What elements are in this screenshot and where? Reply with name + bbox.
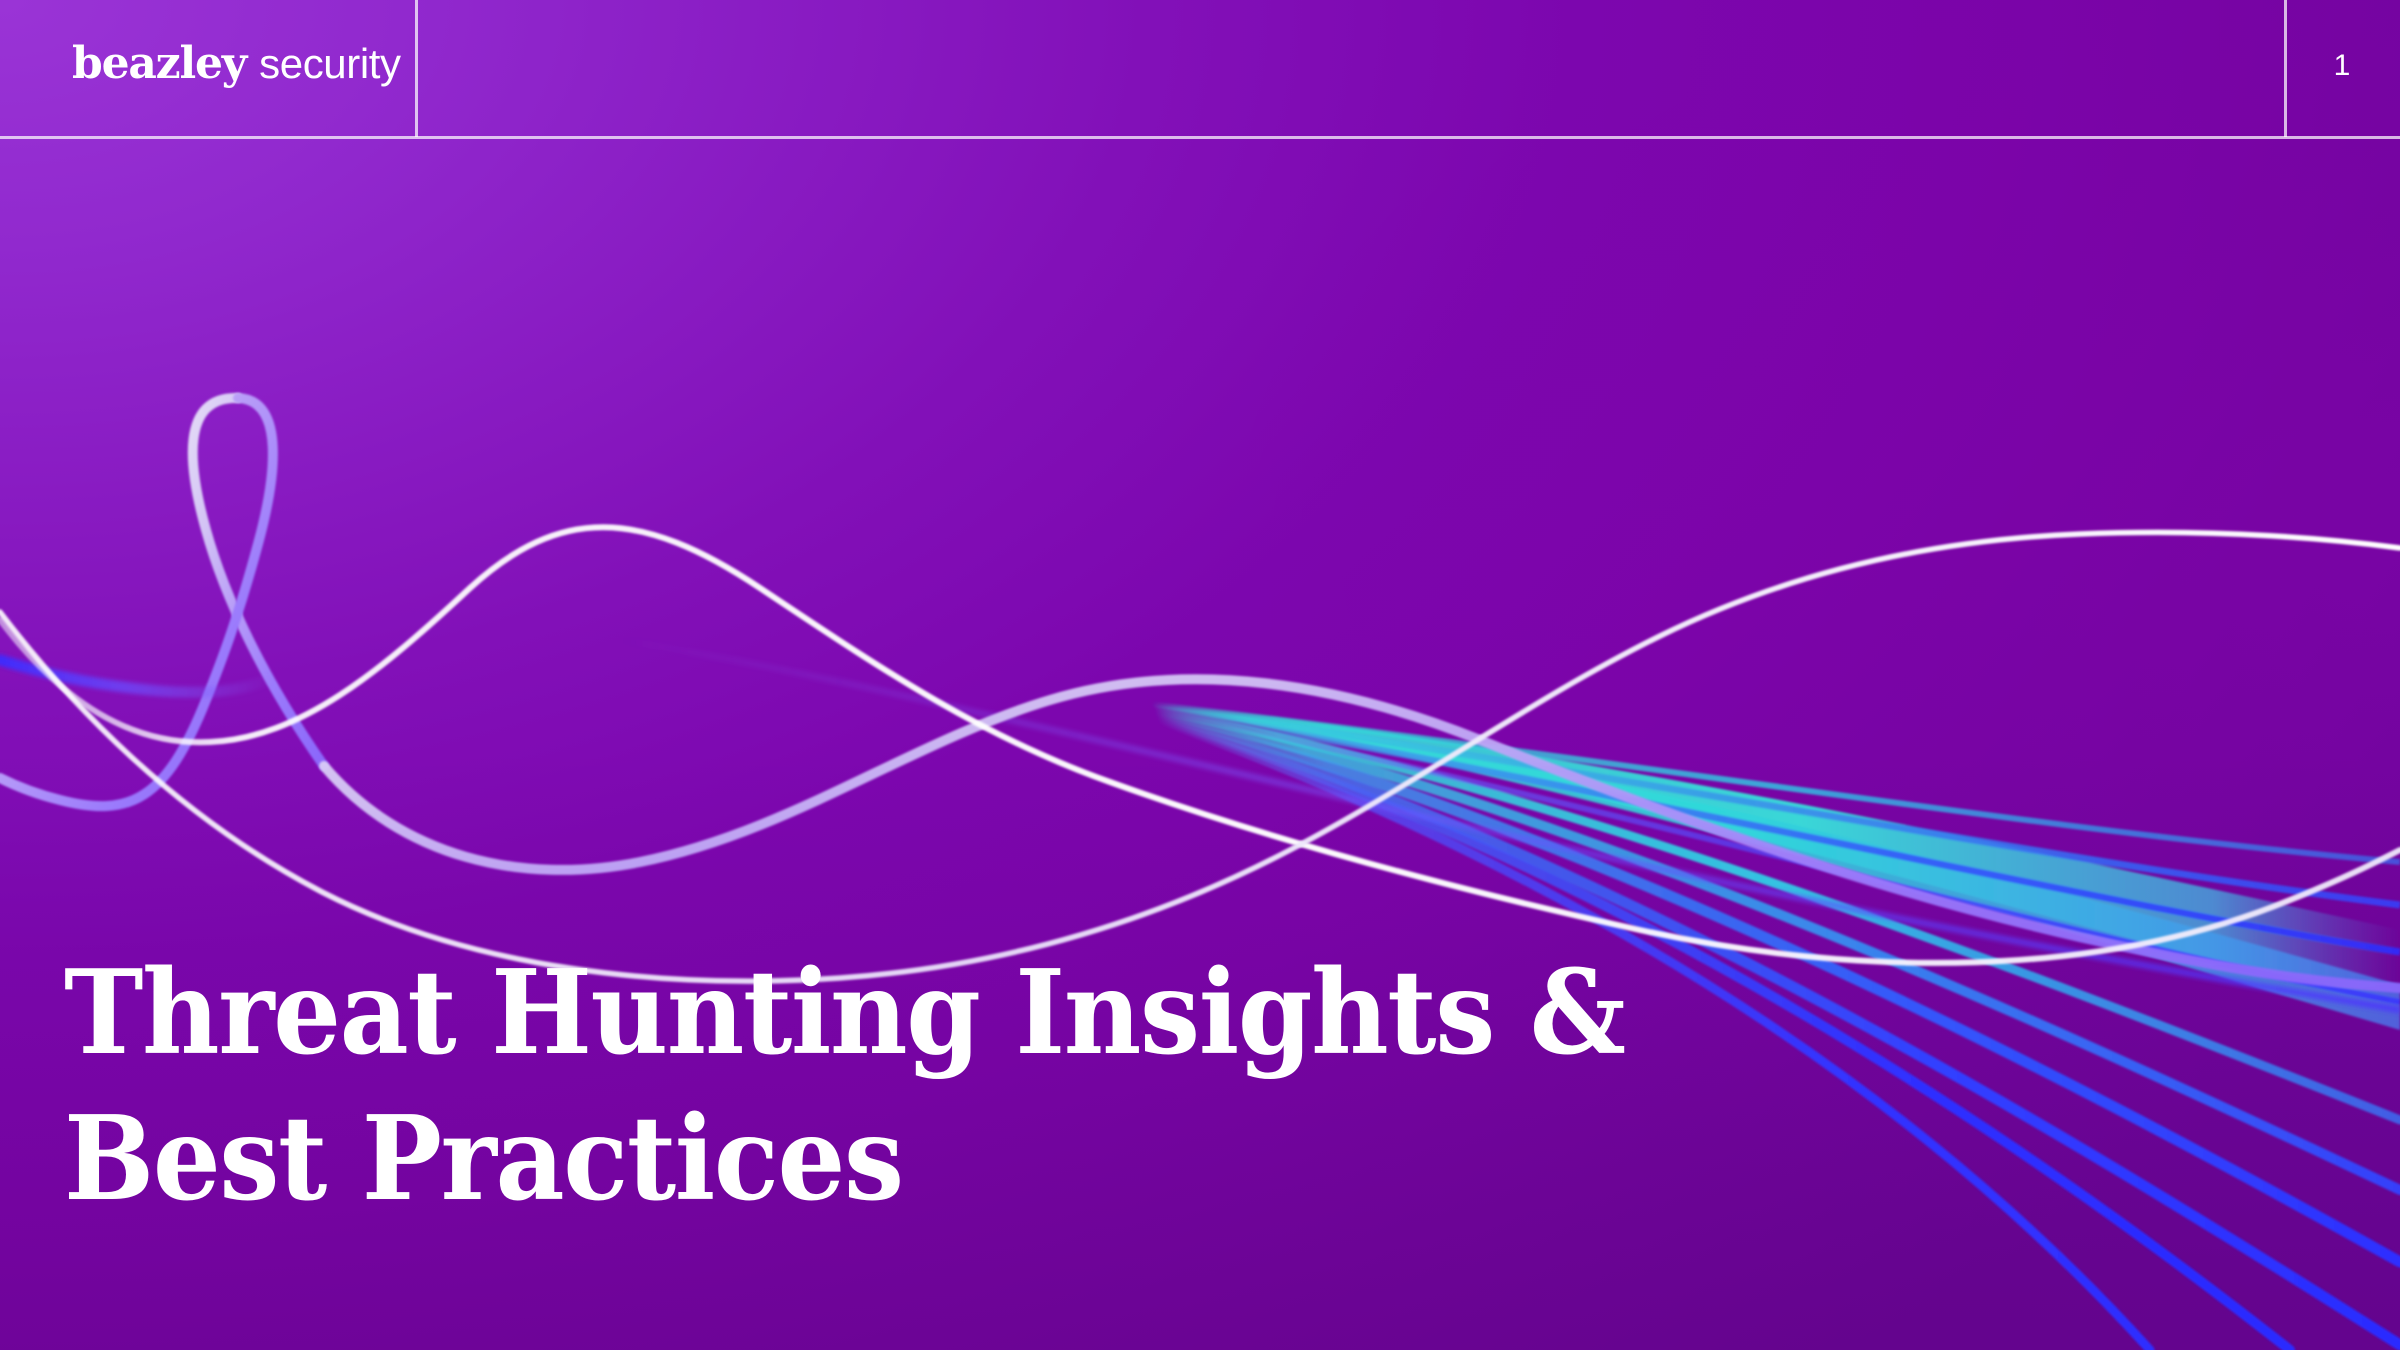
slide-header: beazley security 1: [0, 0, 2400, 139]
slide-title: Threat Hunting Insights & Best Practices: [64, 940, 1764, 1232]
logo-wordmark-beazley: beazley: [72, 42, 246, 86]
logo-wordmark-security: security: [259, 43, 401, 85]
page-number: 1: [2284, 0, 2400, 137]
header-divider-bottom: [0, 136, 2400, 139]
beazley-security-logo: beazley security: [72, 42, 401, 98]
title-slide: beazley security 1 Threat Hunting Insigh…: [0, 0, 2400, 1350]
slide-title-line-1: Threat Hunting Insights &: [64, 940, 1628, 1086]
slide-title-line-2: Best Practices: [64, 1086, 1628, 1232]
header-divider-left: [415, 0, 418, 137]
